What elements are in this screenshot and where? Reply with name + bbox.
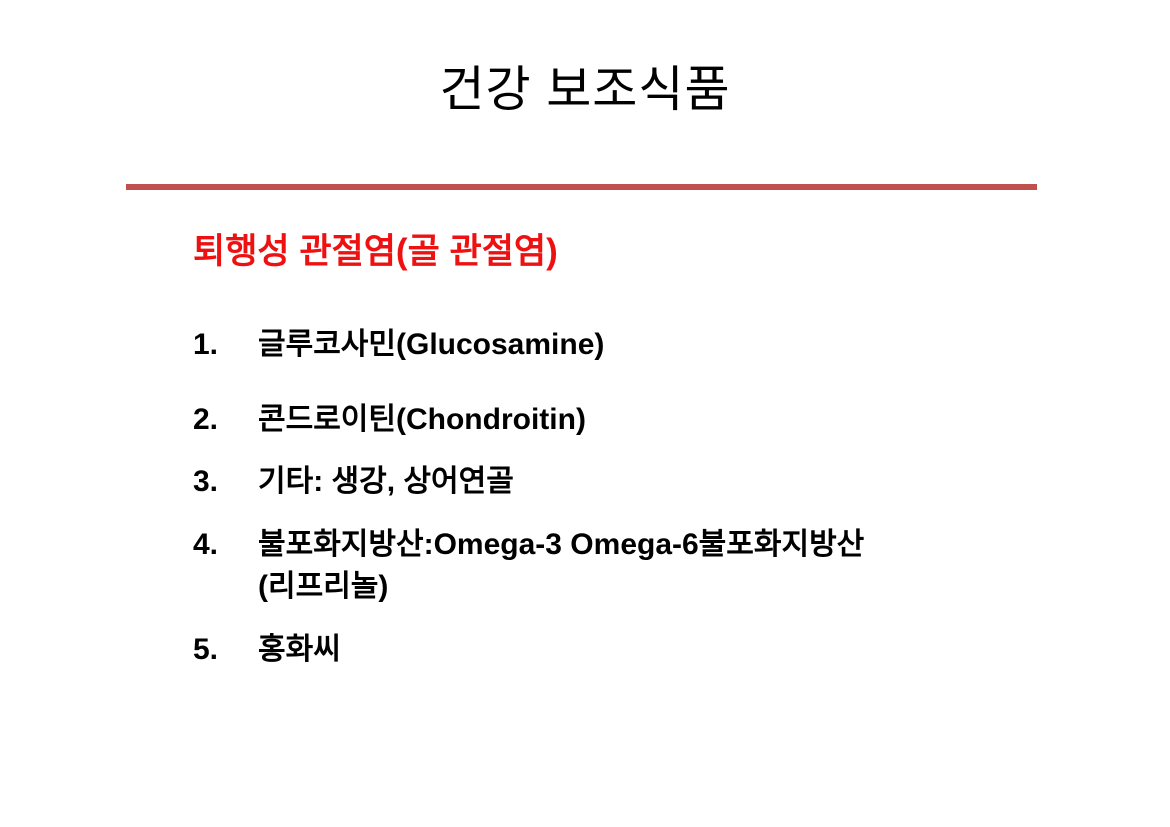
list-item: 3. 기타: 생강, 상어연골 <box>193 461 1053 504</box>
section-heading: 퇴행성 관절염(골 관절염) <box>193 231 558 273</box>
list-item-label: 콘드로이틴(Chondroitin) <box>258 399 1053 442</box>
list-item-label: 불포화지방산:Omega-3 Omega-6불포화지방산 (리프리놀) <box>258 524 1053 609</box>
list-item: 2. 콘드로이틴(Chondroitin) <box>193 399 1053 442</box>
list-item-number: 5. <box>193 629 258 672</box>
list-item-number: 3. <box>193 461 258 504</box>
supplement-list: 1. 글루코사민(Glucosamine) 2. 콘드로이틴(Chondroit… <box>193 324 1053 672</box>
list-item-number: 1. <box>193 324 258 367</box>
title-divider-rule <box>126 184 1037 190</box>
list-item-label: 기타: 생강, 상어연골 <box>258 461 1053 504</box>
page-title: 건강 보조식품 <box>0 62 1170 118</box>
list-item-number: 4. <box>193 524 258 567</box>
list-item: 1. 글루코사민(Glucosamine) <box>193 324 1053 367</box>
list-item-label: 글루코사민(Glucosamine) <box>258 324 1053 367</box>
slide: 건강 보조식품 퇴행성 관절염(골 관절염) 1. 글루코사민(Glucosam… <box>0 0 1170 827</box>
list-item-label: 홍화씨 <box>258 629 1053 672</box>
list-item: 4. 불포화지방산:Omega-3 Omega-6불포화지방산 (리프리놀) <box>193 524 1053 609</box>
list-item-number: 2. <box>193 399 258 442</box>
list-item: 5. 홍화씨 <box>193 629 1053 672</box>
